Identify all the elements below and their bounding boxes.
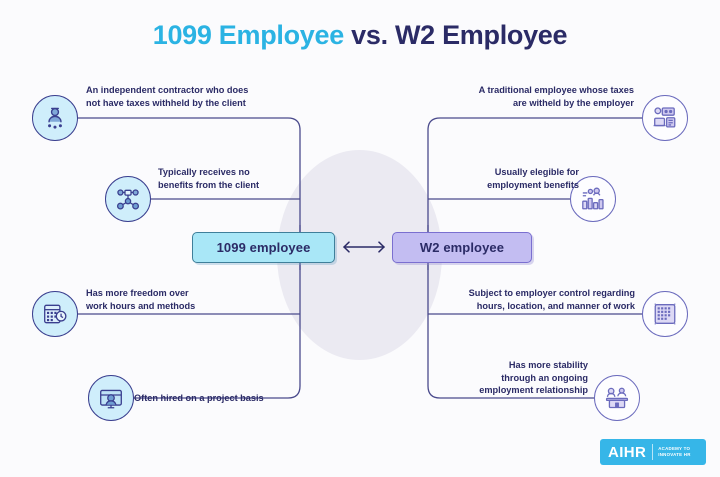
- left-item-3-label: Has more freedom over work hours and met…: [86, 287, 261, 312]
- network-nodes-icon: [105, 176, 151, 222]
- right-item-4-label: Has more stability through an ongoing em…: [440, 359, 588, 397]
- left-item-2-label: Typically receives no benefits from the …: [158, 166, 308, 191]
- aihr-tagline-line2: INNOVATE HR: [658, 452, 690, 458]
- page-title: 1099 Employee vs. W2 Employee: [0, 20, 720, 51]
- left-item-4-label: Often hired on a project basis: [134, 392, 309, 405]
- aihr-logo-tagline: ACADEMY TO INNOVATE HR: [658, 446, 690, 457]
- left-category-label: 1099 employee: [217, 240, 311, 255]
- right-item-2-label: Usually elegible for employment benefits: [434, 166, 579, 191]
- right-category-label: W2 employee: [420, 240, 504, 255]
- employee-desk-icon: [642, 95, 688, 141]
- left-item-1-label: An independent contractor who does not h…: [86, 84, 301, 109]
- contractor-person-icon: [32, 95, 78, 141]
- page-title-highlight: 1099 Employee: [153, 20, 351, 50]
- page-title-rest: vs. W2 Employee: [351, 20, 567, 50]
- right-item-1-label: A traditional employee whose taxes are w…: [434, 84, 634, 109]
- calendar-schedule-icon: [32, 291, 78, 337]
- double-headed-arrow-icon: [338, 239, 390, 255]
- right-item-3-label: Subject to employer control regarding ho…: [410, 287, 635, 312]
- control-grid-icon: [642, 291, 688, 337]
- infographic-canvas: 1099 Employee vs. W2 Employee: [0, 0, 720, 477]
- project-presentation-icon: [88, 375, 134, 421]
- aihr-logo-wordmark: AIHR: [600, 444, 646, 461]
- left-category-box[interactable]: 1099 employee: [192, 232, 335, 263]
- logo-divider: [652, 444, 653, 460]
- stability-team-icon: [594, 375, 640, 421]
- aihr-logo[interactable]: AIHR ACADEMY TO INNOVATE HR: [600, 439, 706, 465]
- right-category-box[interactable]: W2 employee: [392, 232, 532, 263]
